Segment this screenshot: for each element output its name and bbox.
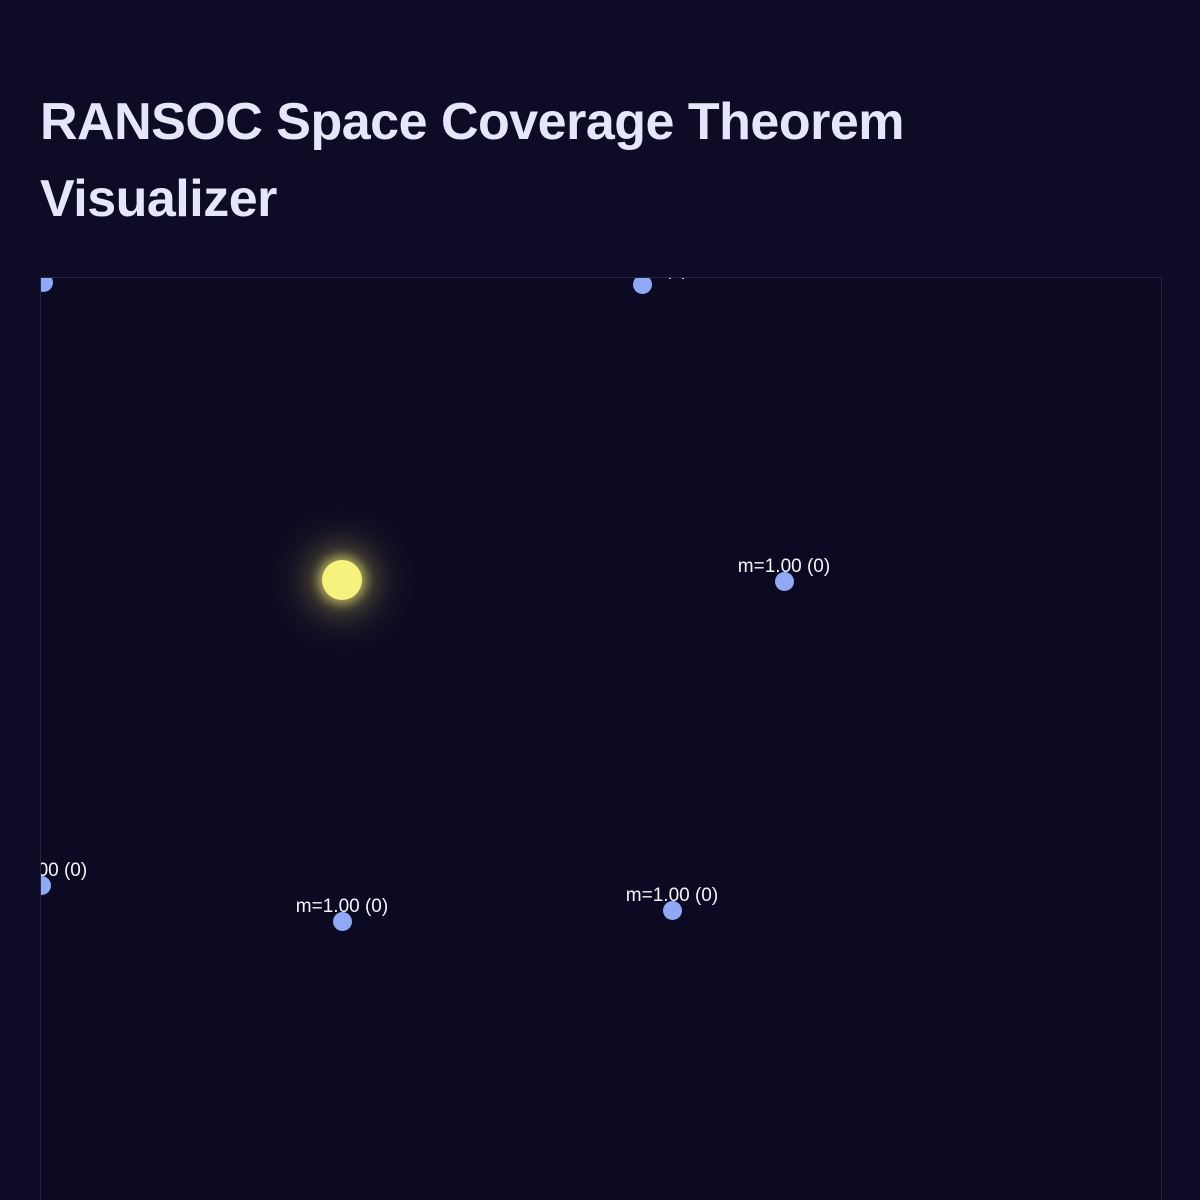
- body-dot[interactable]: [775, 572, 794, 591]
- page-title: RANSOC Space Coverage Theorem Visualizer: [40, 84, 1100, 238]
- body-dot[interactable]: [633, 277, 652, 294]
- simulation-layer: m=1.00 (0)m=1.00 (0)m=1.00 (0)m=1.00 (0)…: [41, 278, 1161, 1200]
- body-dot[interactable]: [663, 901, 682, 920]
- body-dot[interactable]: [333, 912, 352, 931]
- body-dot[interactable]: [40, 277, 53, 292]
- app-root: RANSOC Space Coverage Theorem Visualizer…: [0, 0, 1200, 1200]
- simulation-viewport[interactable]: m=1.00 (0)m=1.00 (0)m=1.00 (0)m=1.00 (0)…: [40, 277, 1162, 1200]
- body-dot[interactable]: [40, 876, 51, 895]
- central-star: [322, 560, 362, 600]
